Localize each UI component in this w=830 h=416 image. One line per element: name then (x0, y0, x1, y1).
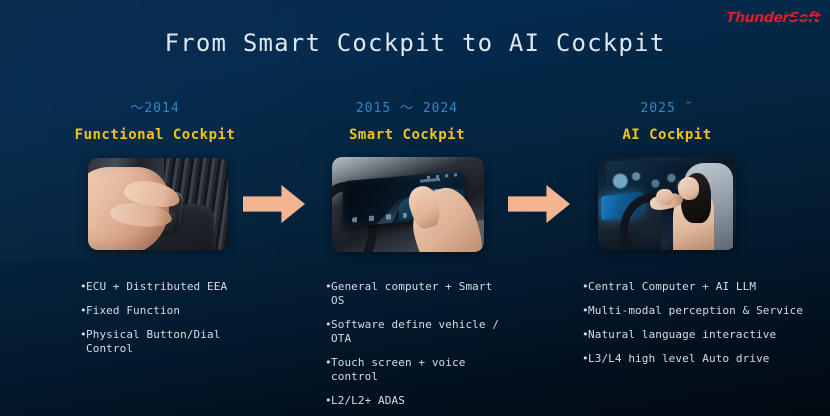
bullet-list-ai: • Central Computer + AI LLM • Multi-moda… (582, 280, 810, 376)
column-functional-cockpit: ～2014 Functional Cockpit (25, 100, 285, 144)
arrow-right-icon (243, 185, 305, 223)
slide-canvas: ThunderSoft From Smart Cockpit to AI Coc… (0, 0, 830, 416)
photo-functional-cockpit (88, 158, 228, 250)
list-item: • ECU + Distributed EEA (80, 280, 250, 294)
photo-smart-cockpit (332, 157, 484, 252)
list-item: • Natural language interactive (582, 328, 810, 342)
bullet-text: ECU + Distributed EEA (86, 280, 250, 294)
photo-ai-cockpit-art (598, 157, 736, 250)
bullet-text: Natural language interactive (588, 328, 810, 342)
list-item: • Software define vehicle / OTA (325, 318, 510, 346)
bullet-text: General computer + Smart OS (331, 280, 510, 308)
bullet-text: Multi-modal perception & Service (588, 304, 810, 318)
list-item: • General computer + Smart OS (325, 280, 510, 308)
slide-title: From Smart Cockpit to AI Cockpit (0, 29, 830, 57)
era-label-1: 2015 ～ 2024 (277, 100, 537, 118)
bullet-text: L2/L2+ ADAS (331, 394, 510, 408)
photo-functional-cockpit-art (88, 158, 228, 250)
logo-text-soft: Soft (789, 10, 821, 26)
screen-status-bar (427, 173, 459, 179)
driver-hand-shape (656, 189, 673, 206)
phase-label-1: Smart Cockpit (322, 127, 492, 144)
logo-text-thunder: Thunder (725, 10, 789, 26)
list-item: • L2/L2+ ADAS (325, 394, 510, 408)
phase-label-0: Functional Cockpit (70, 127, 240, 144)
bullet-list-functional: • ECU + Distributed EEA • Fixed Function… (80, 280, 250, 366)
bullet-text: Physical Button/Dial Control (86, 328, 250, 356)
list-item: • Physical Button/Dial Control (80, 328, 250, 356)
column-ai-cockpit: 2025 ˜ AI Cockpit (537, 100, 797, 144)
phase-label-2: AI Cockpit (582, 127, 752, 144)
era-label-0: ～2014 (25, 100, 285, 118)
bullet-text: L3/L4 high level Auto drive (588, 352, 810, 366)
list-item: • Multi-modal perception & Service (582, 304, 810, 318)
thundersoft-logo: ThunderSoft (726, 11, 821, 25)
bullet-text: Touch screen + voice control (331, 356, 510, 384)
bullet-text: Fixed Function (86, 304, 250, 318)
list-item: • L3/L4 high level Auto drive (582, 352, 810, 366)
bullet-text: Software define vehicle / OTA (331, 318, 510, 346)
column-smart-cockpit: 2015 ～ 2024 Smart Cockpit (277, 100, 537, 144)
city-lights-bokeh (609, 172, 689, 192)
arrow-right-icon (508, 185, 570, 223)
list-item: • Touch screen + voice control (325, 356, 510, 384)
list-item: • Central Computer + AI LLM (582, 280, 810, 294)
era-label-2: 2025 ˜ (537, 100, 797, 118)
photo-ai-cockpit (598, 157, 736, 250)
photo-smart-cockpit-art (332, 157, 484, 252)
bullet-list-smart: • General computer + Smart OS • Software… (325, 280, 510, 416)
list-item: • Fixed Function (80, 304, 250, 318)
bullet-text: Central Computer + AI LLM (588, 280, 810, 294)
screen-icon-row (351, 212, 407, 222)
